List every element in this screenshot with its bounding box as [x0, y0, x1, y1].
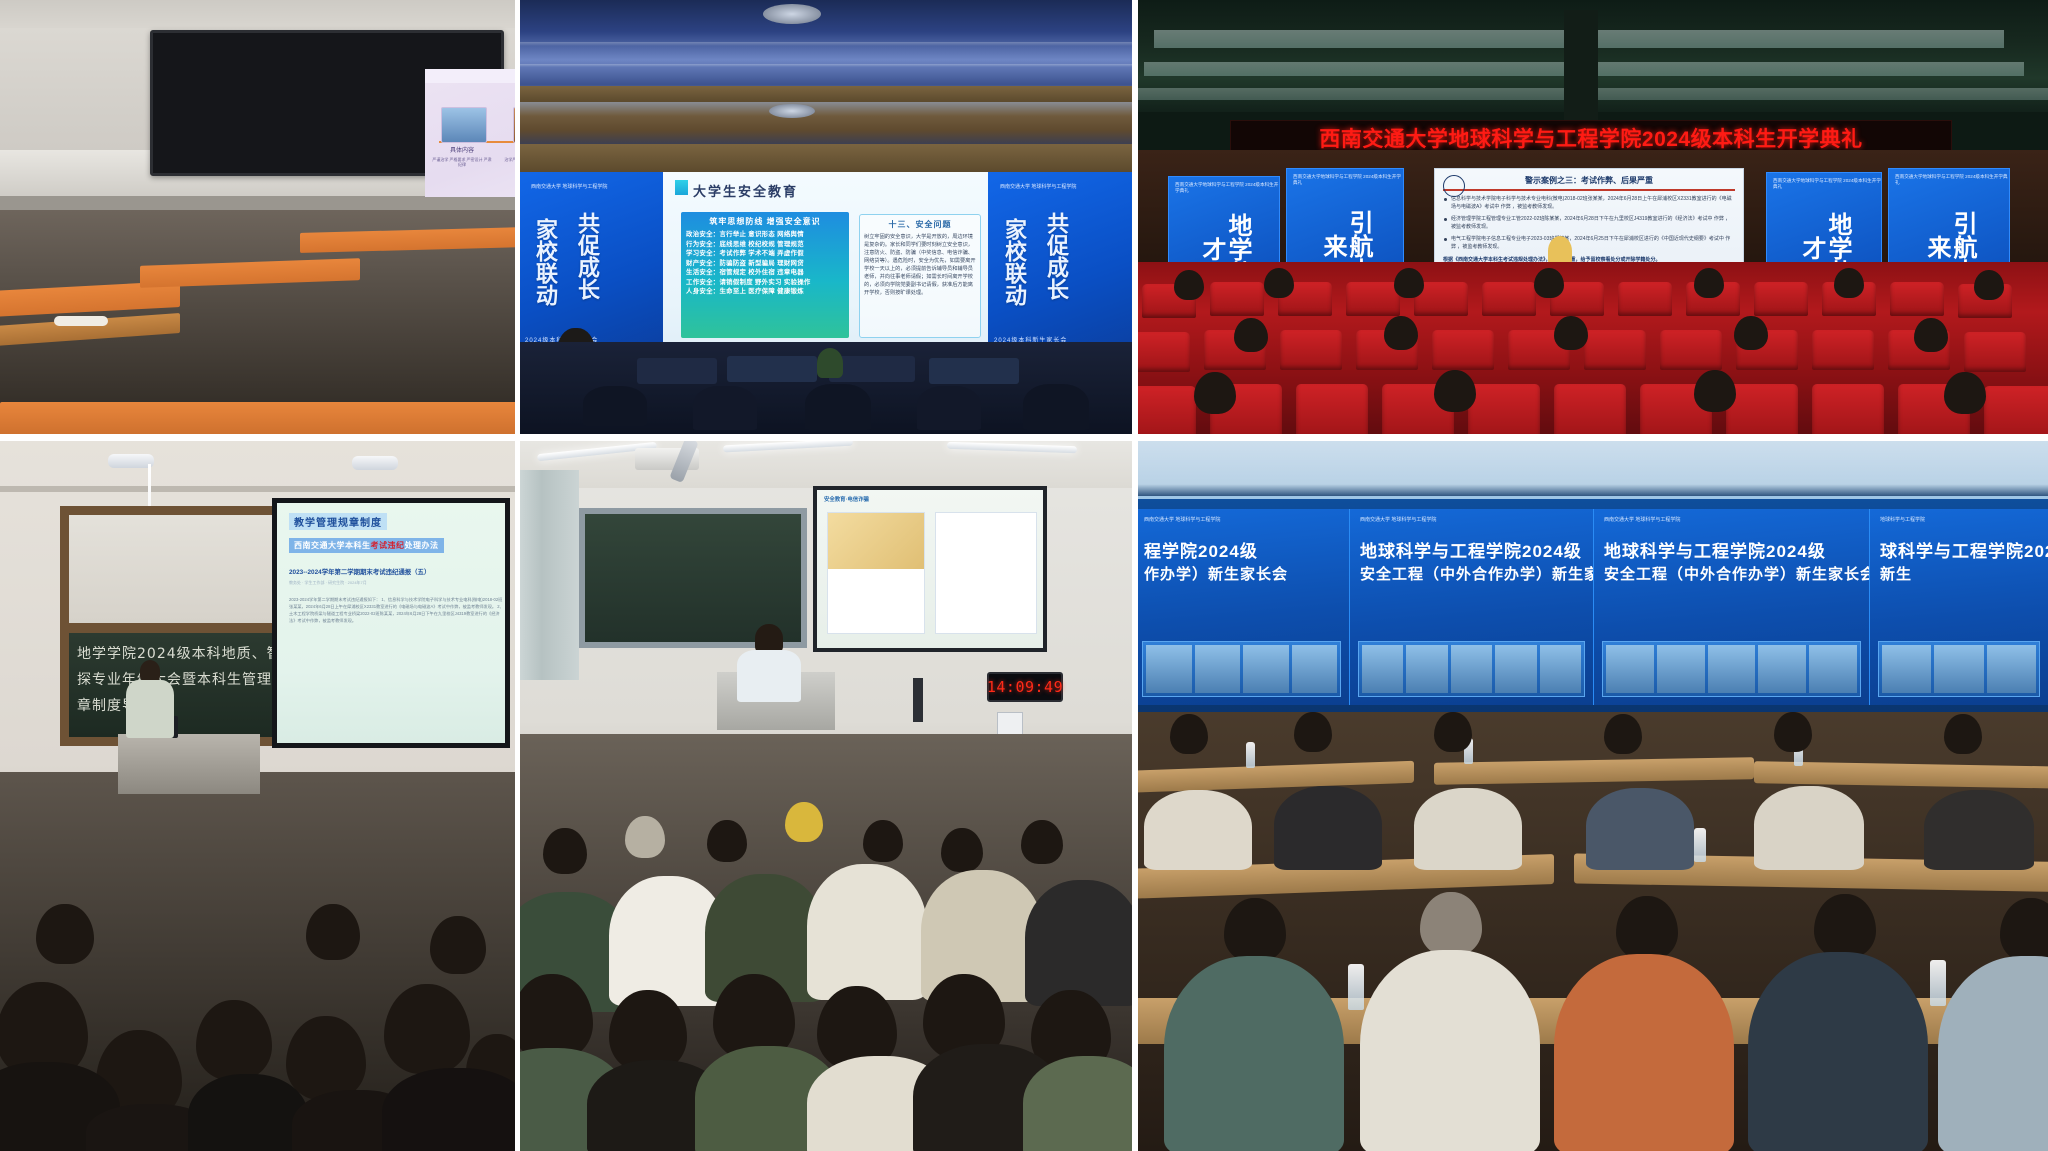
red-seating-area: [1134, 262, 2048, 434]
curved-led-wall: 西南交通大学 地球科学与工程学院 程学院2024级 作办学）新生家长会 西南交通…: [1134, 496, 2048, 715]
attendee-head: [1834, 268, 1864, 298]
attendee-head: [1694, 268, 1724, 298]
slide-title: 警示案例之三：考试作弊、后果严重: [1443, 175, 1735, 191]
clock-time: 14:09:49: [987, 678, 1063, 696]
slide-meta: 教务处 · 学生工作部 · 研究生院 · 2024年7月: [289, 580, 493, 586]
ceiling-light: [763, 4, 821, 24]
seat-row: [727, 356, 817, 382]
screen-right-banner: 西南交通大学 地球科学与工程学院 家校联动 共促成长 2024级本科新生家长会: [988, 172, 1134, 358]
projection-board: 双严传统 具体内容 严谨治学 严格要求 严谨治学 严格要求 严密设计 严肃纪律 …: [150, 30, 504, 176]
attendee: [917, 386, 981, 430]
panel-logo-text: 西南交通大学地球科学与工程学院 2024级本科生开学典礼: [1895, 174, 2009, 186]
attendee: [583, 386, 647, 426]
panel-line-2: 安全工程（中外合作办学）新生家长会: [1360, 564, 1583, 586]
attendee-head: [1194, 372, 1236, 414]
led-panel: 西南交通大学 地球科学与工程学院 地球科学与工程学院2024级 安全工程（中外合…: [1594, 509, 1870, 705]
safety-row: 行为安全：底线思维 校纪校规 管理规范: [686, 240, 844, 250]
screen-left-banner: 西南交通大学 地球科学与工程学院 家校联动 共促成长 2024级本科新生家长会: [517, 172, 663, 358]
student-body: [188, 1074, 308, 1151]
student-head: [306, 904, 360, 960]
student-head: [286, 1016, 366, 1100]
attendee-head: [1294, 712, 1332, 752]
panel-photo-strip: [1878, 641, 2040, 697]
slide-title: 双严传统: [425, 71, 517, 81]
panel-bottom-center-classroom: 安全教育·电信诈骗 14:09:49: [517, 434, 1134, 1151]
wall-mount: [913, 678, 923, 722]
panel-photo-strip: [1358, 641, 1585, 697]
slide-card-text: [828, 569, 924, 581]
attendee-head: [1554, 316, 1588, 350]
chalkboard-split-bar: [69, 623, 306, 633]
attendee: [1023, 384, 1089, 430]
attendee-head: [1914, 318, 1948, 352]
student-head: [1021, 820, 1063, 864]
safety-row: 政治安全：言行举止 意识形态 网络舆情: [686, 230, 844, 240]
panel-line-2: 新生: [1880, 564, 2038, 586]
case-item: 经济管理学院工程管理专业工管2022-02班陈某某，2024年6月28日下午在九…: [1443, 215, 1735, 231]
desk-front-row: [0, 402, 517, 434]
attendee-head: [1734, 316, 1768, 350]
window-curtain: [517, 470, 579, 680]
student-head: [863, 820, 903, 862]
student-head: [36, 904, 94, 964]
truss-column: [1564, 10, 1598, 120]
ceiling-lamp: [352, 456, 398, 470]
lectern-desk: [118, 734, 260, 794]
screen-logo-text: 西南交通大学 地球科学与工程学院: [531, 184, 607, 191]
screen-banner-line1: 家校联动: [533, 218, 558, 306]
student-head: [384, 984, 470, 1074]
slide-thumb-1: [441, 107, 487, 143]
led-panel: 西南交通大学 地球科学与工程学院 程学院2024级 作办学）新生家长会: [1134, 509, 1350, 705]
panel-logo-text: 西南交通大学 地球科学与工程学院: [1360, 517, 1583, 524]
case-item: 电气工程学院电子信息工程专业电子2023-03班郑某某，2024年6月25日下午…: [1443, 235, 1735, 251]
panel-logo-text: 西南交通大学 地球科学与工程学院: [1604, 517, 1859, 524]
callout-body: 树立牢固的安全意识，大学是开放的，周边环境是复杂的。家长和同学们要时刻树立安全意…: [864, 233, 976, 297]
attendee-head: [1774, 712, 1812, 752]
attendee-head: [1394, 268, 1424, 298]
student-head: [941, 828, 983, 872]
slide-title: 教学管理规章制度: [289, 513, 387, 530]
chalkboard-green-section: 地学学院2024级本科地质、智探专业年级大会暨本科生管理规章制度导学: [69, 633, 306, 737]
projection-screen: 教学管理规章制度 西南交通大学本科生考试违纪处理办法 2023--2024学年第…: [272, 498, 510, 748]
title-marker: [675, 180, 688, 195]
safety-box-title: 筑牢思想防线 增强安全意识: [686, 216, 844, 227]
safety-topics-box: 筑牢思想防线 增强安全意识 政治安全：言行举止 意识形态 网络舆情 行为安全：底…: [681, 212, 849, 338]
led-banner-text: 西南交通大学地球科学与工程学院2024级本科生开学典礼: [1319, 123, 1862, 153]
projection-screen: 安全教育·电信诈骗: [813, 486, 1047, 652]
attendee-head: [1694, 370, 1736, 412]
student-body: [807, 864, 927, 1000]
student-head-cap: [625, 816, 665, 858]
student-head: [430, 916, 486, 974]
panel-logo-text: 西南交通大学地球科学与工程学院 2024级本科生开学典礼: [1175, 182, 1279, 194]
panel-top-right-auditorium: 西南交通大学地球科学与工程学院2024级本科生开学典礼 警示案例之三：考试作弊、…: [1134, 0, 2048, 434]
panel-line-1: 球科学与工程学院2024: [1880, 540, 2038, 564]
screen-banner-line2: 共促成长: [575, 212, 600, 300]
panel-line-1: 地球科学与工程学院2024级: [1604, 540, 1859, 564]
attendee-body: [1144, 790, 1252, 870]
case-list: 信息科学与技术学院电子科学与技术专业电科(微电)2018-02班张某某，2024…: [1443, 195, 1735, 251]
case-item: 信息科学与技术学院电子科学与技术专业电科(微电)2018-02班张某某，2024…: [1443, 195, 1735, 211]
seat-row: [637, 358, 717, 384]
panel-line-1: 地球科学与工程学院2024级: [1360, 540, 1583, 564]
student-head: [543, 828, 587, 874]
slide-title: 安全教育·电信诈骗: [824, 495, 869, 503]
screen-banner-line2: 共促成长: [1044, 212, 1069, 300]
panel-logo-text: 西南交通大学地球科学与工程学院 2024级本科生开学典礼: [1773, 178, 1881, 190]
attendee-head: [1384, 316, 1418, 350]
collage-gutter-vertical: [1132, 0, 1138, 1151]
slide-section: 2023--2024学年第二学期期末考试违纪通报（五）: [289, 567, 493, 576]
safety-callout-bubble: 十三、安全问题 树立牢固的安全意识，大学是开放的，周边环境是复杂的。家长和同学们…: [859, 214, 981, 338]
table: [1134, 761, 1414, 793]
screen-logo-text: 西南交通大学 地球科学与工程学院: [1000, 184, 1076, 191]
slide-card-text: [936, 513, 1036, 525]
slide-subtitle: 西南交通大学本科生考试违纪处理办法: [289, 538, 444, 553]
attendee: [805, 384, 871, 430]
attendee-body: [1274, 786, 1382, 870]
panel-line-1: 程学院2024级: [1144, 540, 1339, 564]
ceiling-beam: [517, 64, 1134, 67]
collage-gutter-vertical: [515, 0, 520, 1151]
safety-row: 学习安全：考试作弊 学术不端 弄虚作假: [686, 249, 844, 259]
attendee-head: [1264, 268, 1294, 298]
student-body: [1025, 880, 1134, 1006]
safety-row: 人身安全：生命至上 医疗保障 健康锻炼: [686, 287, 844, 297]
wood-band: [517, 144, 1134, 172]
subtitle-prefix: 西南交通大学本科生: [294, 541, 371, 550]
panel-bottom-left-chalkboard-classroom: 地学学院2024级本科地质、智探专业年级大会暨本科生管理规章制度导学 教学管理规…: [0, 434, 517, 1151]
panel-line-2: 安全工程（中外合作办学）新生家长会: [1604, 564, 1859, 586]
callout-title: 十三、安全问题: [864, 219, 976, 230]
panel-logo-text: 西南交通大学 地球科学与工程学院: [1144, 517, 1339, 524]
slide-caption-1: 具体内容: [433, 145, 491, 154]
presenter-body: [737, 650, 801, 702]
student-head: [707, 820, 747, 862]
attendee-body: [1748, 952, 1928, 1151]
audience-tables-area: [1134, 712, 2048, 1151]
collage-gutter-horizontal: [0, 434, 2048, 441]
safety-row: 生活安全：宿管规定 校外住宿 违章电器: [686, 268, 844, 278]
slide-body: 2023-2024学年第二学期期末考试违纪通报如下： 1、信息科学与技术学院电子…: [289, 596, 505, 624]
wood-band: [517, 86, 1134, 102]
laptop-device: [54, 316, 108, 326]
panel-line-2: 作办学）新生家长会: [1144, 564, 1339, 586]
safety-row: 工作安全：请销假制度 野外实习 实验操作: [686, 278, 844, 288]
ceiling-rail: [0, 486, 517, 492]
audience-seating: [517, 342, 1134, 434]
panel-logo-text: 地球科学与工程学院: [1880, 517, 2038, 524]
student-head: [196, 1000, 272, 1080]
attendee-body: [1938, 956, 2048, 1151]
university-crest-icon: [1443, 175, 1465, 197]
potted-plant: [817, 348, 843, 378]
panel-bottom-right-led-hall: 西南交通大学 地球科学与工程学院 程学院2024级 作办学）新生家长会 西南交通…: [1134, 434, 2048, 1151]
student-body: [382, 1068, 517, 1151]
led-panel: 地球科学与工程学院 球科学与工程学院2024 新生: [1870, 509, 2048, 705]
attendee-head: [1174, 270, 1204, 300]
slide-top-left: 双严传统 具体内容 严谨治学 严格要求 严谨治学 严格要求 严密设计 严肃纪律 …: [425, 69, 517, 197]
attendee-head: [1604, 714, 1642, 754]
panel-photo-strip: [1142, 641, 1341, 697]
subtitle-suffix: 处理办法: [405, 541, 439, 550]
chalkboard-white-section: [69, 515, 306, 623]
attendee-body: [1360, 950, 1540, 1151]
attendee-head-bald: [1420, 892, 1482, 956]
attendee-head: [1434, 370, 1476, 412]
slide-image: [828, 513, 924, 569]
panel-logo-text: 西南交通大学地球科学与工程学院 2024级本科生开学典礼: [1293, 174, 1403, 186]
seat-row: [929, 358, 1019, 384]
attendee-body: [1414, 788, 1522, 870]
attendee-head: [1814, 894, 1876, 958]
attendee-head: [1944, 372, 1986, 414]
slide-title: 大学生安全教育: [693, 181, 798, 200]
attendee-body: [1586, 788, 1694, 870]
ceiling-light: [769, 104, 815, 118]
attendee-head: [1616, 896, 1678, 960]
student-head-yellow: [785, 802, 823, 842]
attendee: [693, 386, 757, 430]
attendee-body: [1164, 956, 1344, 1151]
subtitle-highlight: 考试违纪: [371, 541, 405, 550]
presentation-slide: 大学生安全教育 筑牢思想防线 增强安全意识 政治安全：言行举止 意识形态 网络舆…: [663, 172, 988, 358]
instructor-head: [140, 660, 160, 682]
student-body-camo: [1023, 1056, 1134, 1151]
attendee-body: [1924, 790, 2034, 870]
attendee-head: [1944, 714, 1982, 754]
panel-top-left-classroom: 双严传统 具体内容 严谨治学 严格要求 严谨治学 严格要求 严密设计 严肃纪律 …: [0, 0, 517, 434]
attendee-head: [1224, 898, 1286, 962]
stage-led-screen: 西南交通大学 地球科学与工程学院 家校联动 共促成长 2024级本科新生家长会 …: [517, 172, 1134, 358]
slide-card-left: [827, 512, 925, 634]
ceiling-beam: [517, 42, 1134, 46]
attendee-head: [1534, 268, 1564, 298]
attendee-body: [1754, 786, 1864, 870]
safety-row: 财产安全：防骗防盗 新型骗局 理财网贷: [686, 259, 844, 269]
digital-clock: 14:09:49: [987, 672, 1063, 702]
attendee-head: [1434, 712, 1472, 752]
chalkboard-handwriting: 地学学院2024级本科地质、智探专业年级大会暨本科生管理规章制度导学: [77, 641, 292, 719]
panel-photo-strip: [1602, 641, 1861, 697]
led-panel: 西南交通大学 地球科学与工程学院 地球科学与工程学院2024级 安全工程（中外合…: [1350, 509, 1594, 705]
instructor-body: [126, 680, 174, 738]
attendee-head: [2000, 898, 2048, 962]
attendee-head: [1170, 714, 1208, 754]
slide-blurb-1: 严谨治学 严格要求 严密设计 严肃纪律: [431, 157, 493, 167]
photo-collage: 双严传统 具体内容 严谨治学 严格要求 严谨治学 严格要求 严密设计 严肃纪律 …: [0, 0, 2048, 1151]
attendee-head: [1974, 270, 2004, 300]
attendee-head: [1234, 318, 1268, 352]
slide-card-right: [935, 512, 1037, 634]
screen-banner-line1: 家校联动: [1002, 218, 1027, 306]
attendee-body: [1554, 954, 1734, 1151]
table: [1434, 757, 1754, 785]
panel-top-center-hall: 西南交通大学 地球科学与工程学院 家校联动 共促成长 2024级本科新生家长会 …: [517, 0, 1134, 434]
